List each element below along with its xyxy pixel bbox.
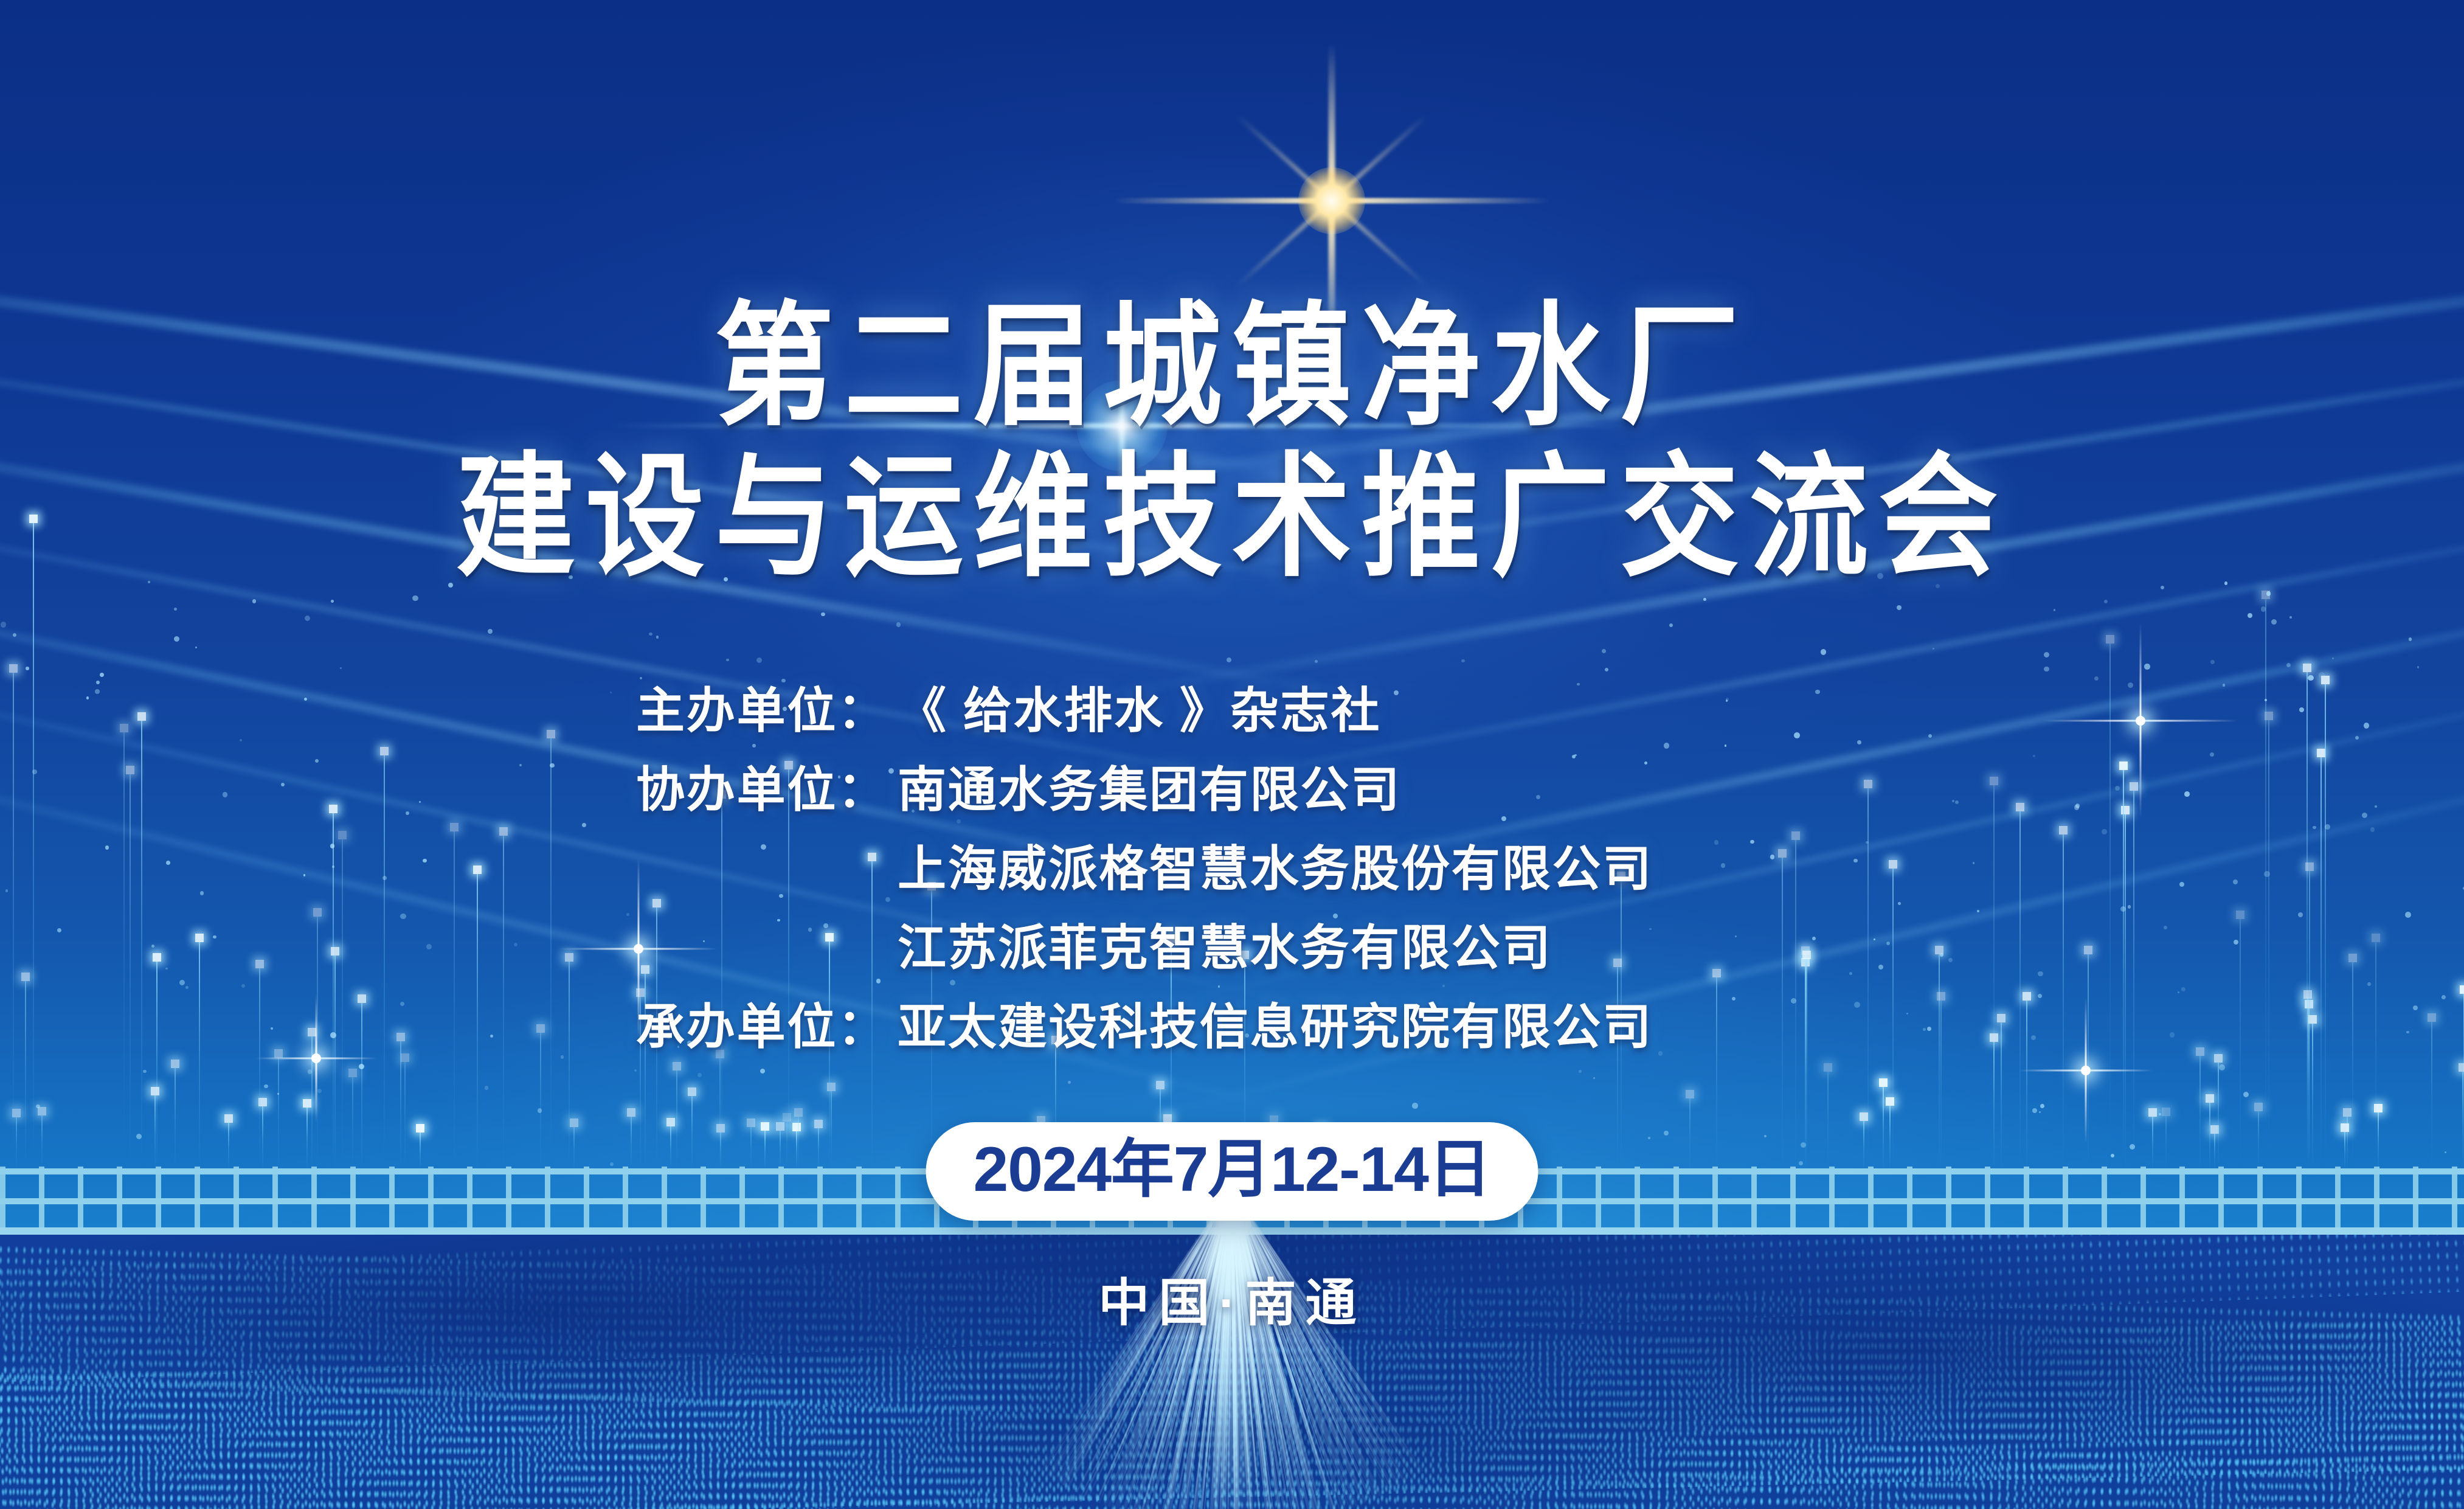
organizer-list: 主办单位：《 给水排水 》杂志社协办单位：南通水务集团有限公司上海威派格智慧水务… [636, 671, 1828, 1067]
organizer-name: 南通水务集团有限公司 [898, 763, 1401, 817]
organizer-name: 《 给水排水 》杂志社 [898, 684, 1381, 738]
organizer-row: 江苏派菲克智慧水务有限公司 [636, 909, 1828, 988]
organizer-row: 协办单位：南通水务集团有限公司 [636, 751, 1828, 830]
conference-poster: 第二届城镇净水厂 建设与运维技术推广交流会 主办单位：《 给水排水 》杂志社协办… [0, 0, 2464, 1509]
organizer-name: 上海威派格智慧水务股份有限公司 [898, 842, 1653, 896]
organizer-name: 亚太建设科技信息研究院有限公司 [898, 1000, 1653, 1054]
organizer-name: 江苏派菲克智慧水务有限公司 [898, 921, 1552, 975]
organizer-role-label: 主办单位： [636, 671, 898, 751]
organizer-role-label: 协办单位： [636, 751, 898, 830]
organizer-role-label: 承办单位： [636, 988, 898, 1067]
organizer-row: 主办单位：《 给水排水 》杂志社 [636, 671, 1828, 751]
poster-title-line-2: 建设与运维技术推广交流会 [0, 409, 2464, 602]
organizer-row: 上海威派格智慧水务股份有限公司 [636, 830, 1828, 909]
event-location-label: 中国·南通 [0, 1262, 2464, 1336]
organizer-row: 承办单位：亚太建设科技信息研究院有限公司 [636, 988, 1828, 1067]
event-date-badge: 2024年7月12-14日 [926, 1122, 1538, 1221]
